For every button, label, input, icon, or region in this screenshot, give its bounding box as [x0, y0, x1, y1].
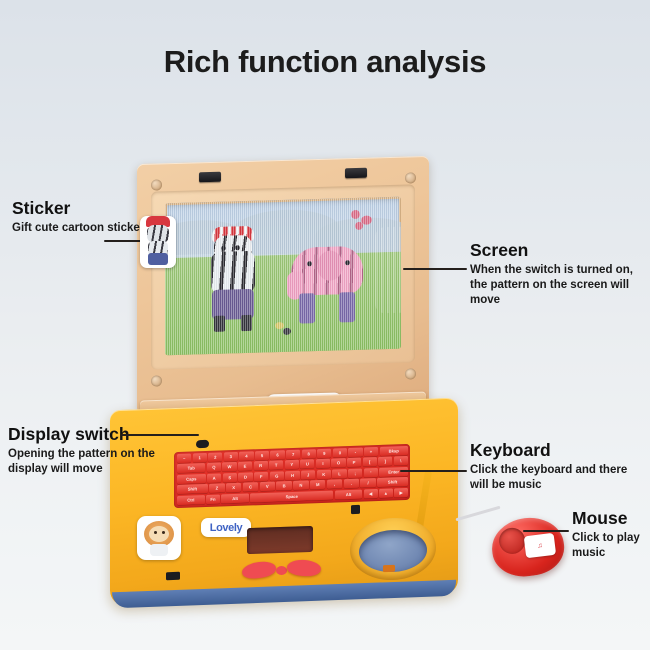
key-o[interactable]: O — [331, 459, 345, 468]
key-[interactable]: [ — [363, 457, 377, 466]
product-illustration: PUZZLE LEARNiNG MACHINE ~1234567890-+Bks… — [0, 0, 650, 650]
key-space[interactable]: Space — [250, 490, 333, 502]
lid-screw-bottom-left-icon — [151, 375, 162, 386]
key-alt[interactable]: Alt — [335, 489, 363, 499]
lcd-display — [247, 526, 313, 554]
key-r[interactable]: R — [254, 461, 268, 470]
annotation-display-switch-body: Opening the pattern on the display will … — [8, 447, 168, 476]
lovely-sticker: Lovely — [201, 518, 251, 537]
cartoon-sticker-lion — [137, 516, 181, 560]
zebra-character — [203, 229, 265, 335]
key-c[interactable]: C — [243, 482, 258, 492]
key-shift[interactable]: Shift — [377, 477, 408, 487]
lid-bezel: PUZZLE LEARNiNG MACHINE — [151, 184, 415, 369]
annotation-mouse-body: Click to play music — [572, 531, 648, 560]
infographic-canvas: Rich function analysis — [0, 0, 650, 650]
key-u[interactable]: U — [300, 460, 314, 469]
key-bksp[interactable]: Bksp — [380, 446, 408, 456]
key-z[interactable]: Z — [209, 484, 224, 494]
key-[interactable]: / — [360, 478, 375, 488]
key-q[interactable]: Q — [207, 463, 221, 472]
key-[interactable]: ▶ — [394, 488, 408, 497]
key-[interactable]: ~ — [177, 454, 191, 463]
annotation-sticker-heading: Sticker — [12, 198, 152, 218]
leader-line-display-switch — [121, 434, 199, 436]
key-g[interactable]: G — [270, 471, 284, 480]
key-p[interactable]: P — [347, 458, 361, 467]
annotation-screen-heading: Screen — [470, 240, 646, 260]
key-e[interactable]: E — [238, 462, 252, 471]
key-fn[interactable]: Fn — [206, 494, 220, 503]
key-t[interactable]: T — [269, 461, 283, 470]
key-b[interactable]: B — [276, 481, 291, 491]
key-5[interactable]: 5 — [255, 451, 269, 460]
key-f[interactable]: F — [254, 472, 268, 481]
key-n[interactable]: N — [293, 481, 308, 491]
key-k[interactable]: K — [317, 469, 331, 478]
key-[interactable]: + — [364, 447, 378, 456]
annotation-sticker: Sticker Gift cute cartoon stickers — [12, 198, 152, 236]
key-6[interactable]: 6 — [270, 450, 284, 459]
port-left — [166, 572, 180, 580]
port-right — [383, 565, 395, 572]
key-ctrl[interactable]: Ctrl — [177, 495, 205, 505]
annotation-display-switch: Display switch Opening the pattern on th… — [8, 424, 168, 477]
key-a[interactable]: A — [207, 473, 221, 482]
key-y[interactable]: Y — [285, 460, 299, 469]
elephant-leg-right — [339, 292, 355, 322]
key-[interactable]: ; — [348, 468, 362, 477]
key-[interactable]: - — [348, 448, 362, 457]
lid-screw-top-right-icon — [405, 172, 416, 183]
zebra-leg-right — [241, 315, 252, 331]
mouse[interactable]: ♫ — [489, 514, 568, 580]
key-d[interactable]: D — [238, 472, 252, 481]
key-3[interactable]: 3 — [224, 452, 238, 461]
leader-line-keyboard — [400, 470, 467, 472]
zebra-body — [211, 251, 255, 294]
annotation-sticker-body: Gift cute cartoon stickers — [12, 221, 152, 236]
zebra-leg-left — [214, 316, 225, 332]
elephant-leg-left — [299, 293, 315, 323]
annotation-screen-body: When the switch is turned on, the patter… — [470, 263, 646, 307]
key-4[interactable]: 4 — [239, 451, 253, 460]
music-note-icon: ♫ — [524, 533, 556, 558]
speaker-port — [351, 505, 360, 514]
key-[interactable]: ◀ — [364, 489, 378, 498]
annotation-keyboard-body: Click the keyboard and there will be mus… — [470, 463, 648, 492]
key-j[interactable]: J — [301, 470, 315, 479]
mouse-cable — [455, 506, 500, 522]
key-i[interactable]: I — [316, 459, 330, 468]
leader-line-sticker — [104, 240, 144, 242]
annotation-mouse-heading: Mouse — [572, 508, 648, 528]
annotation-keyboard-heading: Keyboard — [470, 440, 648, 460]
lid-screw-bottom-right-icon — [405, 368, 416, 379]
annotation-mouse: Mouse Click to play music — [572, 508, 648, 561]
annotation-screen: Screen When the switch is turned on, the… — [470, 240, 646, 307]
lion-eye-right — [162, 531, 165, 534]
lion-face — [149, 526, 169, 542]
key-shift[interactable]: Shift — [177, 484, 208, 494]
key-0[interactable]: 0 — [333, 448, 347, 457]
lid-switch-right-icon[interactable] — [345, 168, 367, 179]
keyboard[interactable]: ~1234567890-+BkspTabQWERTYUIOP[]\CapsASD… — [174, 444, 410, 508]
key-h[interactable]: H — [285, 471, 299, 480]
key-[interactable]: \ — [394, 456, 408, 465]
key-w[interactable]: W — [222, 462, 236, 471]
annotation-keyboard: Keyboard Click the keyboard and there wi… — [470, 440, 648, 493]
animated-screen[interactable] — [165, 197, 401, 356]
key-caps[interactable]: Caps — [177, 474, 206, 484]
key-7[interactable]: 7 — [286, 450, 300, 459]
lion-eye-left — [154, 531, 157, 534]
key-1[interactable]: 1 — [193, 453, 207, 462]
key-9[interactable]: 9 — [317, 449, 331, 458]
cartoon-sticker-zebra — [140, 216, 176, 268]
lid-screw-top-left-icon — [151, 179, 162, 190]
key-alt[interactable]: Alt — [221, 493, 249, 503]
sticker-zebra-pants — [148, 253, 168, 265]
lid-switch-left-icon[interactable] — [199, 172, 221, 183]
key-m[interactable]: M — [310, 480, 325, 490]
bush — [375, 227, 401, 314]
key-x[interactable]: X — [226, 483, 241, 493]
key-[interactable]: , — [327, 479, 342, 489]
key-s[interactable]: S — [223, 473, 237, 482]
button-center[interactable] — [276, 566, 287, 575]
key-8[interactable]: 8 — [302, 449, 316, 458]
key-tab[interactable]: Tab — [177, 463, 205, 473]
key-[interactable]: ▲ — [379, 488, 393, 497]
key-l[interactable]: L — [332, 469, 346, 478]
leader-line-mouse — [523, 530, 569, 532]
key-2[interactable]: 2 — [208, 452, 222, 461]
display-switch-control[interactable] — [196, 440, 209, 448]
key-[interactable]: ] — [378, 457, 392, 466]
elephant-character — [285, 240, 369, 334]
key-[interactable]: . — [344, 479, 359, 489]
leader-line-screen — [403, 268, 467, 270]
lion-body — [150, 544, 168, 556]
key-[interactable]: ' — [364, 468, 378, 477]
laptop-lid: PUZZLE LEARNiNG MACHINE — [137, 156, 429, 412]
key-v[interactable]: V — [260, 482, 275, 492]
